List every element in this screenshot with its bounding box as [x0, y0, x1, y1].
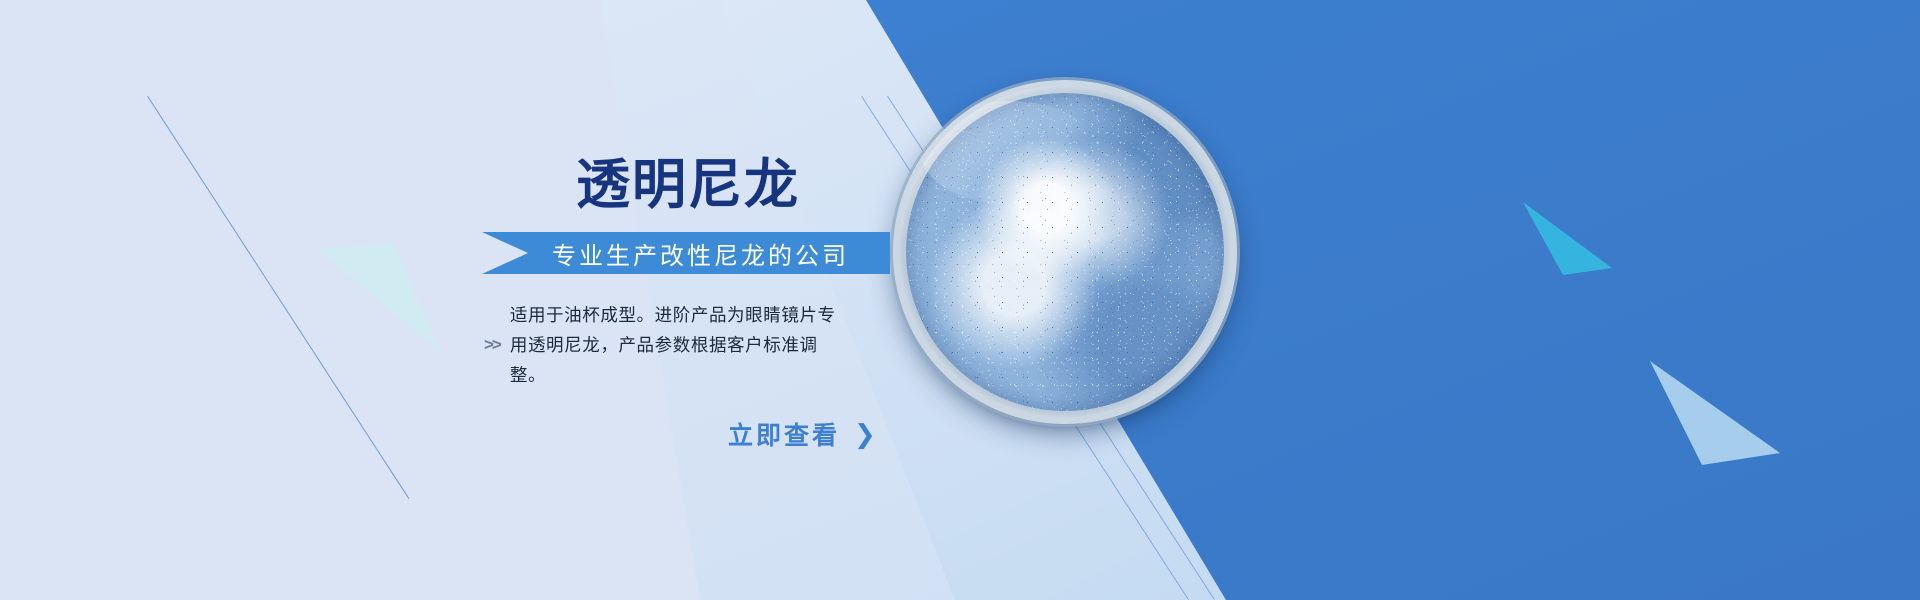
hero-banner: 透明尼龙 专业生产改性尼龙的公司 >> 适用于油杯成型。进阶产品为眼睛镜片专用透… [0, 0, 1920, 600]
banner-content: 透明尼龙 专业生产改性尼龙的公司 >> 适用于油杯成型。进阶产品为眼睛镜片专用透… [0, 0, 1000, 600]
double-chevron-icon: >> [484, 335, 500, 355]
view-now-button[interactable]: 立即查看 ❯ [728, 416, 879, 452]
view-now-label: 立即查看 [728, 416, 840, 452]
tagline-label: 专业生产改性尼龙的公司 [552, 236, 849, 271]
chevron-right-icon: ❯ [854, 421, 879, 447]
description-block: >> 适用于油杯成型。进阶产品为眼睛镜片专用透明尼龙，产品参数根据客户标准调整。 [484, 300, 840, 390]
description-text: 适用于油杯成型。进阶产品为眼睛镜片专用透明尼龙，产品参数根据客户标准调整。 [510, 300, 840, 390]
page-title: 透明尼龙 [576, 158, 800, 212]
tagline-banner: 专业生产改性尼龙的公司 [482, 232, 890, 274]
